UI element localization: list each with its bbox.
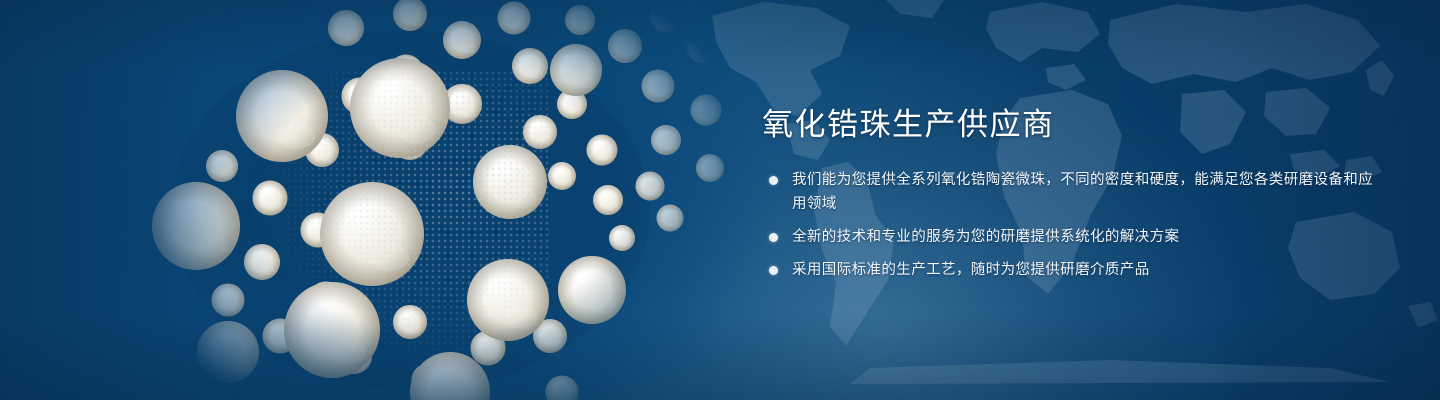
list-item: 全新的技术和专业的服务为您的研磨提供系统化的解决方案 (762, 225, 1382, 249)
list-item-label: 采用国际标准的生产工艺，随时为您提供研磨介质产品 (792, 258, 1382, 282)
list-item: 采用国际标准的生产工艺，随时为您提供研磨介质产品 (762, 258, 1382, 282)
dot-bullet-icon (769, 176, 778, 185)
list-item-label: 全新的技术和专业的服务为您的研磨提供系统化的解决方案 (792, 225, 1382, 249)
list-item-label: 我们能为您提供全系列氧化锆陶瓷微珠，不同的密度和硬度，能满足您各类研磨设备和应用… (792, 168, 1382, 216)
dot-bullet-icon (769, 233, 778, 242)
banner-content: 氧化锆珠生产供应商 我们能为您提供全系列氧化锆陶瓷微珠，不同的密度和硬度，能满足… (762, 108, 1382, 282)
zirconia-beads-photo (110, 0, 770, 400)
hero-banner: 氧化锆珠生产供应商 我们能为您提供全系列氧化锆陶瓷微珠，不同的密度和硬度，能满足… (0, 0, 1440, 400)
list-item: 我们能为您提供全系列氧化锆陶瓷微珠，不同的密度和硬度，能满足您各类研磨设备和应用… (762, 168, 1382, 216)
dot-bullet-icon (769, 266, 778, 275)
feature-list: 我们能为您提供全系列氧化锆陶瓷微珠，不同的密度和硬度，能满足您各类研磨设备和应用… (762, 168, 1382, 282)
beads-image-layer (110, 0, 770, 400)
page-title: 氧化锆珠生产供应商 (762, 108, 1382, 142)
